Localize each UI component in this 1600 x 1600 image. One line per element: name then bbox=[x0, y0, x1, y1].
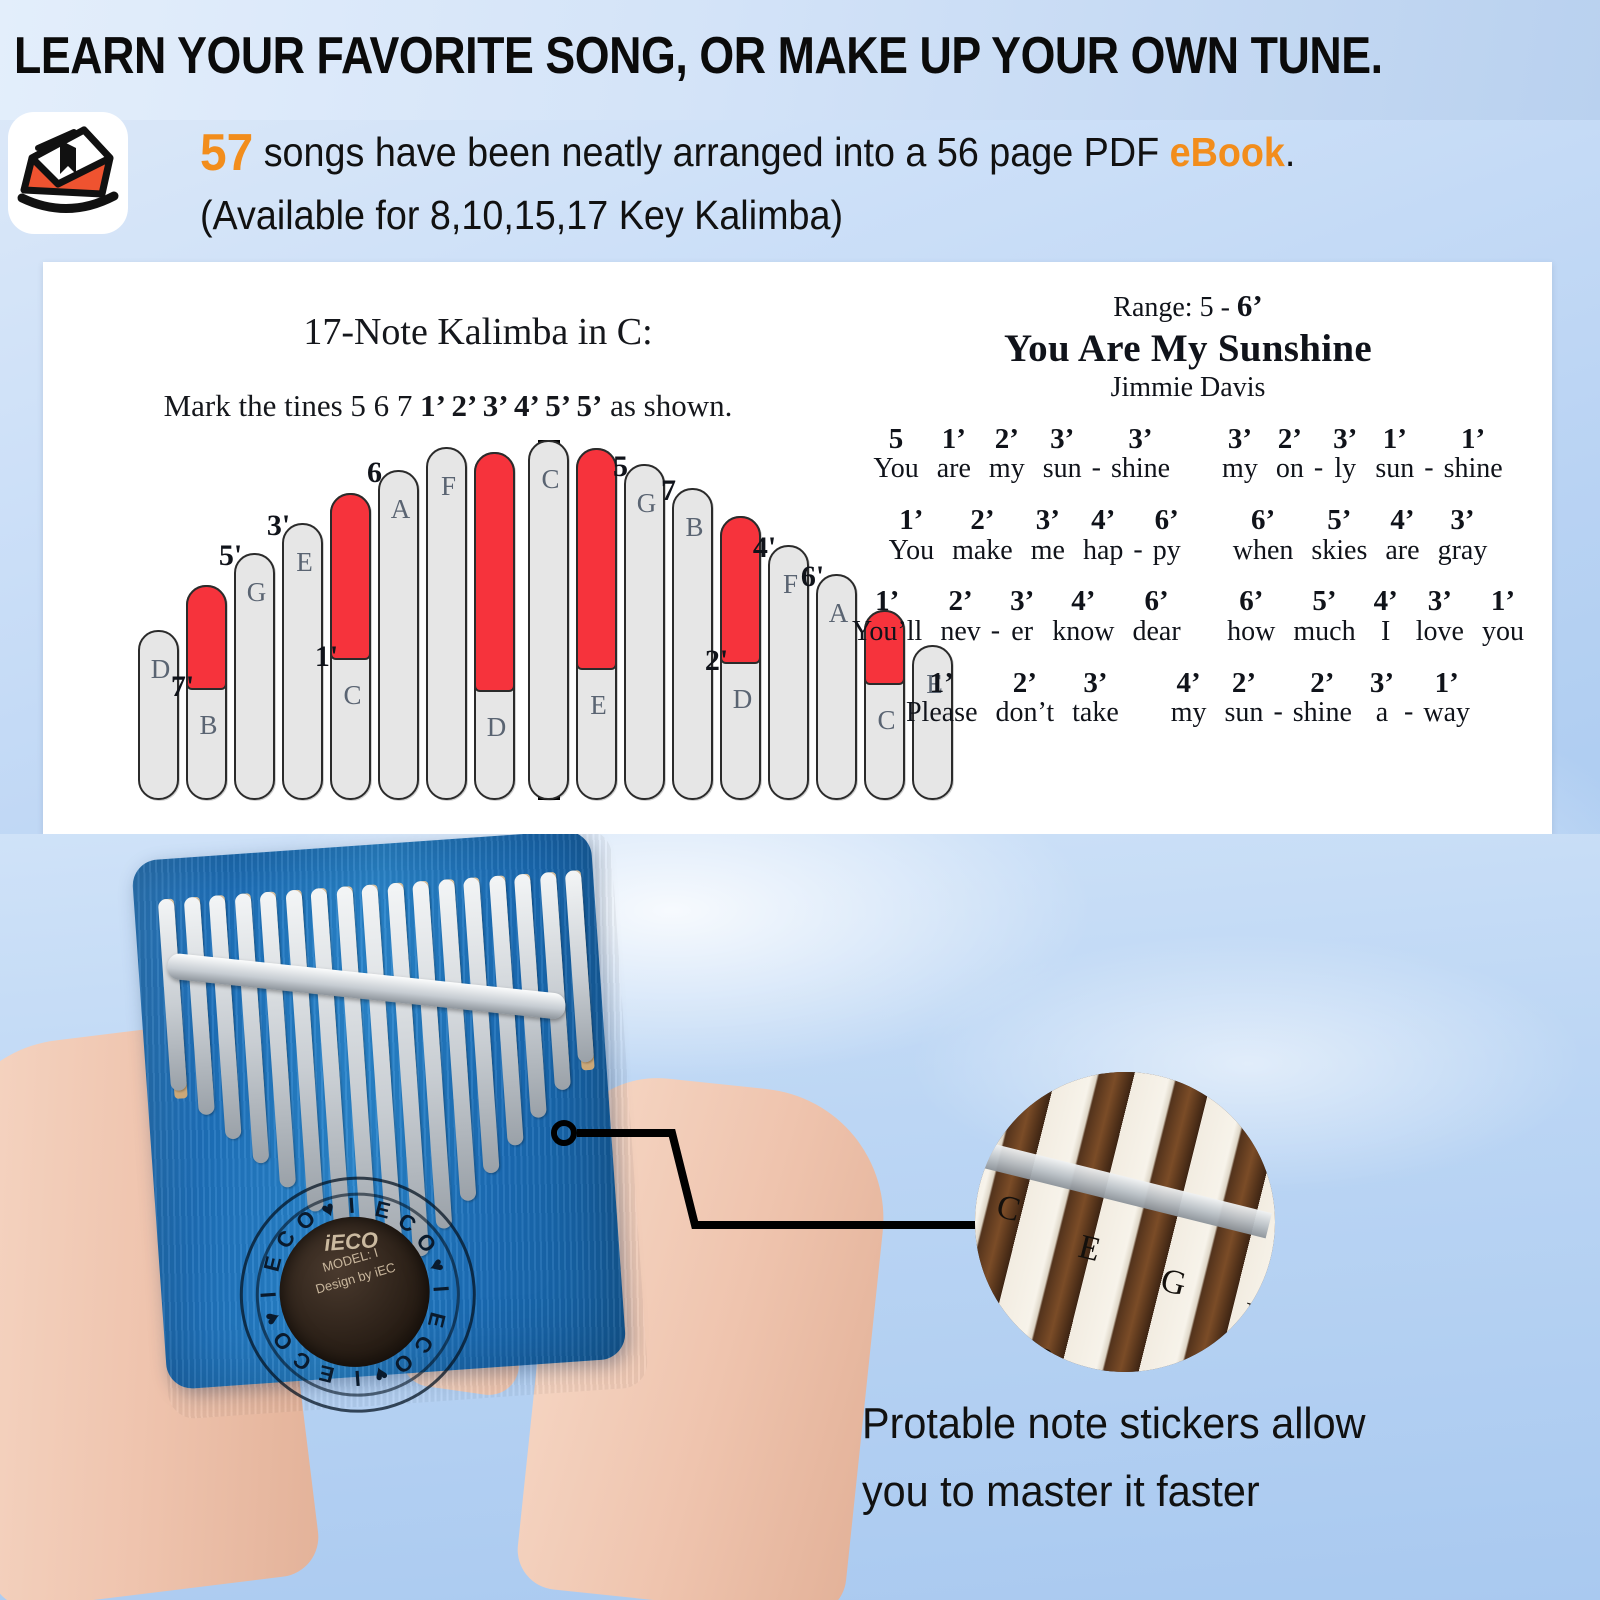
callout-target-circle bbox=[551, 1120, 577, 1146]
magnified-bridge-bar bbox=[975, 1112, 1272, 1239]
callout-leader-line bbox=[0, 0, 1600, 1600]
caption-line-1: Protable note stickers allow bbox=[862, 1390, 1464, 1458]
caption-line-2: you to master it faster bbox=[862, 1458, 1464, 1526]
photo-caption: Protable note stickers allow you to mast… bbox=[862, 1390, 1464, 1526]
magnified-tines bbox=[975, 1072, 1275, 1372]
magnified-stickers-view: C1E3G5B7D2 bbox=[975, 1072, 1275, 1372]
